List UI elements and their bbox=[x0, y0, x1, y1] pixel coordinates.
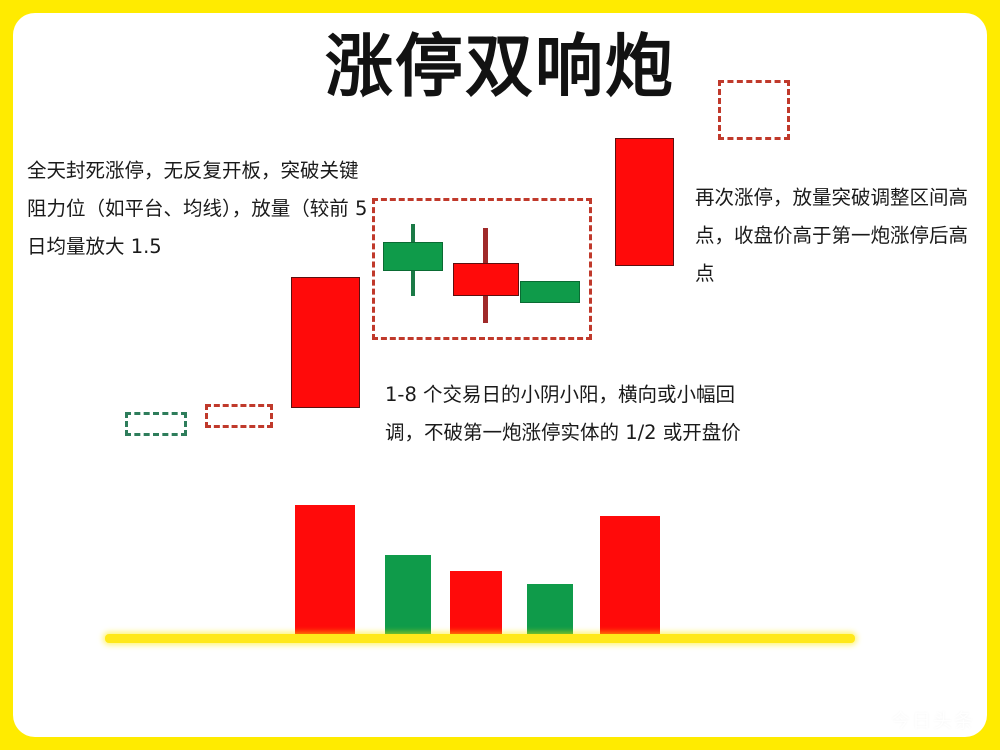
candle-body-first-cannon bbox=[291, 277, 360, 408]
volume-bar-4 bbox=[527, 584, 573, 640]
watermark: 今日头条 bbox=[891, 706, 975, 733]
annotation-consolidation: 1-8 个交易日的小阴小阳，横向或小幅回调，不破第一炮涨停实体的 1/2 或开盘… bbox=[385, 376, 765, 452]
poster-frame: 涨停双响炮 全天封死涨停，无反复开板，突破关键阻力位（如平台、均线），放量（较前… bbox=[0, 0, 1000, 750]
volume-bar-1 bbox=[295, 505, 355, 640]
baseline-rule bbox=[105, 634, 855, 643]
candle-body-second-cannon bbox=[615, 138, 674, 266]
legend-key-red-box bbox=[205, 404, 273, 428]
volume-bar-5 bbox=[600, 516, 660, 640]
volume-bar-3 bbox=[450, 571, 502, 640]
volume-bar-2 bbox=[385, 555, 431, 640]
candle-body-consolidation-2 bbox=[453, 263, 519, 296]
poster-canvas: 涨停双响炮 全天封死涨停，无反复开板，突破关键阻力位（如平台、均线），放量（较前… bbox=[13, 13, 987, 737]
top-right-legend-box bbox=[718, 80, 790, 140]
annotation-second-cannon: 再次涨停，放量突破调整区间高点，收盘价高于第一炮涨停后高点 bbox=[695, 179, 987, 293]
candle-body-consolidation-3 bbox=[520, 281, 580, 303]
legend-key-green-box bbox=[125, 412, 187, 436]
candlestick-diagram bbox=[13, 13, 987, 737]
candle-body-consolidation-1 bbox=[383, 242, 443, 271]
annotation-first-cannon: 全天封死涨停，无反复开板，突破关键阻力位（如平台、均线），放量（较前 5 日均量… bbox=[27, 152, 377, 266]
